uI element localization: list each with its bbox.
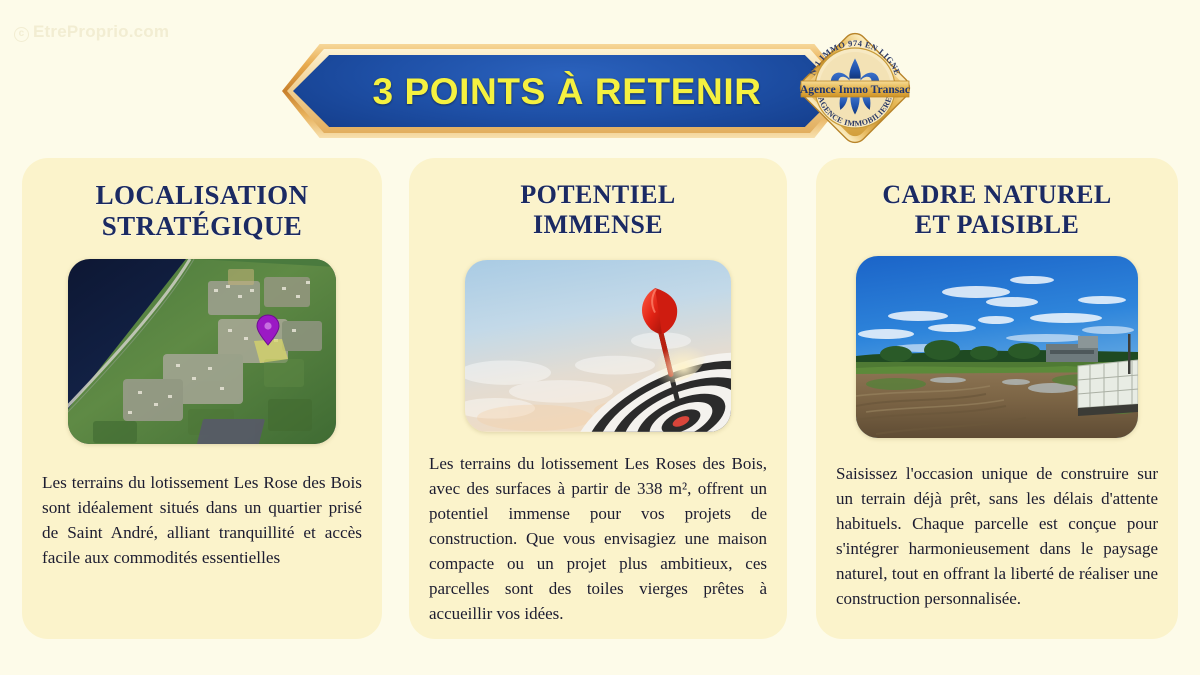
badge-ribbon: Agence Immo Transac [800,81,910,97]
utility-pole [1128,334,1131,374]
card-cadre-naturel-et-paisible[interactable]: CADRE NATUREL ET PAISIBLE [816,158,1178,639]
card-localisation-strategique[interactable]: LOCALISATION STRATÉGIQUE [22,158,382,639]
agency-logo-badge: N°1 IMMO 974 EN LIGNE AGENCE IMMOBILIERE… [791,24,919,152]
card-title-3-line1: CADRE NATUREL [882,180,1111,209]
card-potentiel-immense[interactable]: POTENTIEL IMMENSE [409,158,787,639]
copyright-icon: c [14,27,29,42]
card-body-1: Les terrains du lotissement Les Rose des… [36,470,368,571]
card-title-3: CADRE NATUREL ET PAISIBLE [882,180,1111,240]
vacant-land-plot-image [856,256,1138,438]
card-title-1-line2: STRATÉGIQUE [102,211,302,241]
card-title-2-line2: IMMENSE [533,210,663,239]
card-title-3-line2: ET PAISIBLE [915,210,1080,239]
card-title-1-line1: LOCALISATION [96,180,309,210]
badge-ribbon-text: Agence Immo Transac [800,84,910,96]
header: 3 POINTS À RETENIR [0,0,1200,160]
dart-on-target-image [465,260,731,432]
card-body-2: Les terrains du lotissement Les Roses de… [423,452,773,627]
watermark-label: EtreProprio.com [33,22,169,41]
card-body-3: Saisissez l'occasion unique de construir… [830,462,1164,612]
page-title: 3 POINTS À RETENIR [372,73,761,110]
card-title-2-line1: POTENTIEL [520,180,675,209]
cards-row: LOCALISATION STRATÉGIQUE [0,158,1200,658]
watermark: cEtreProprio.com [14,22,169,42]
header-banner: 3 POINTS À RETENIR [282,44,852,138]
card-title-2: POTENTIEL IMMENSE [520,180,675,240]
aerial-satellite-map-image [68,259,336,444]
banner-inner-panel: 3 POINTS À RETENIR [293,55,841,127]
card-title-1: LOCALISATION STRATÉGIQUE [96,180,309,243]
